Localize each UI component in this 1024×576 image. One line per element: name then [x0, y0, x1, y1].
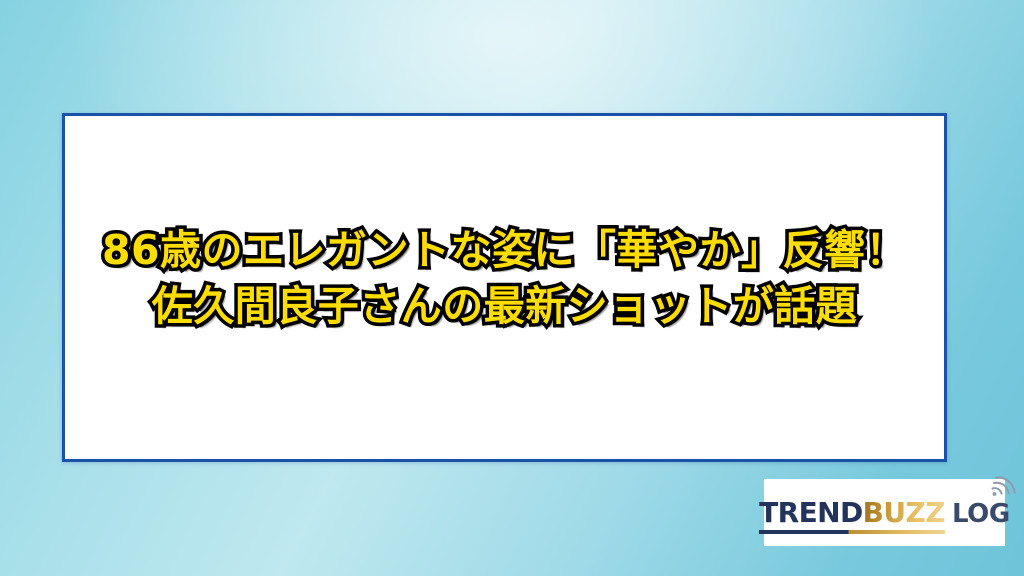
headline-block: 86歳のエレガントな姿に「華やか」反響！ 佐久間良子さんの最新ショットが話題	[65, 222, 944, 334]
wifi-signal-icon	[990, 475, 1016, 497]
headline-line-1: 86歳のエレガントな姿に「華やか」反響！	[65, 222, 944, 278]
logo-underline-bar	[759, 530, 945, 534]
logo-inner: TRENDBUZZ LOG	[755, 499, 1014, 527]
logo-text-log: LOG	[952, 501, 1010, 527]
headline-line-2: 佐久間良子さんの最新ショットが話題	[65, 278, 944, 334]
headline-card: 86歳のエレガントな姿に「華やか」反響！ 佐久間良子さんの最新ショットが話題	[62, 113, 947, 462]
logo-text-buzz: BUZZ	[863, 496, 945, 529]
site-logo-badge[interactable]: TRENDBUZZ LOG	[764, 479, 1005, 546]
logo-wordmark: TRENDBUZZ	[759, 499, 945, 527]
thumbnail-canvas: 86歳のエレガントな姿に「華やか」反響！ 佐久間良子さんの最新ショットが話題 T…	[0, 0, 1024, 576]
logo-text-trend: TREND	[759, 496, 862, 529]
